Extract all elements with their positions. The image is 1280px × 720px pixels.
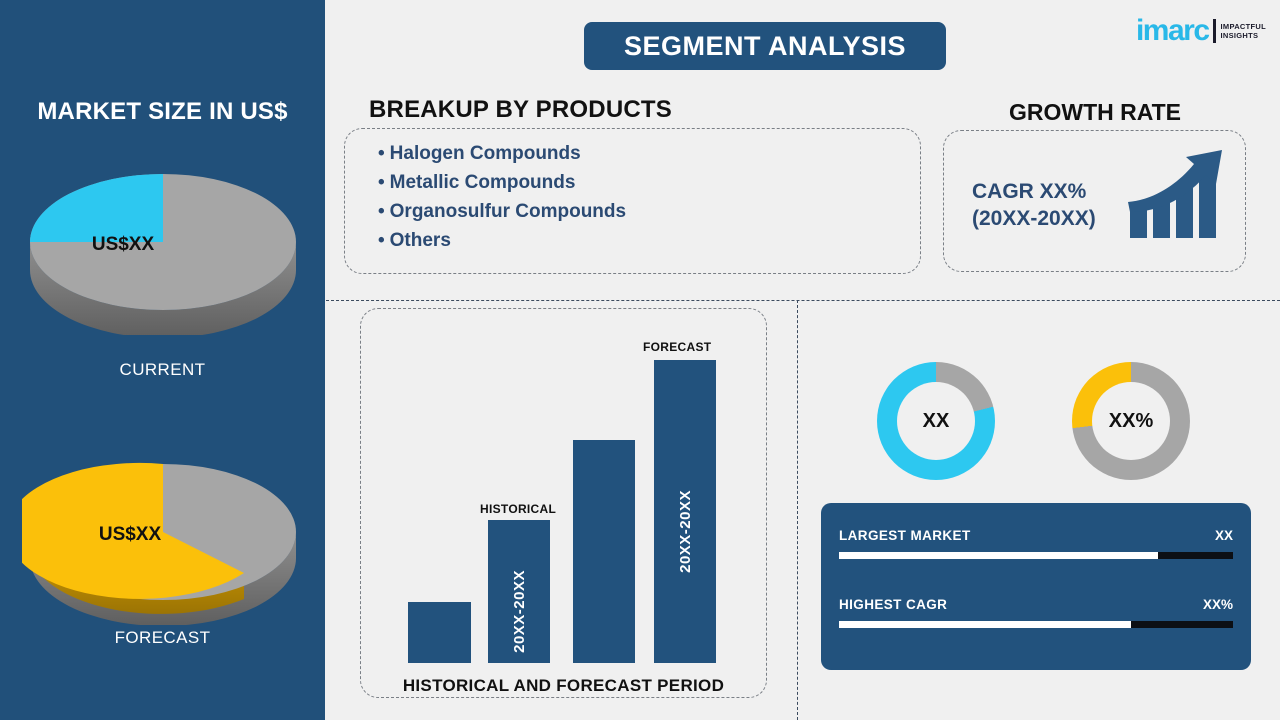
current-pie-caption: CURRENT — [0, 360, 325, 380]
vertical-divider — [797, 300, 798, 720]
bar-chart-axis-label: HISTORICAL AND FORECAST PERIOD — [360, 676, 767, 696]
stat-header: HIGHEST CAGR XX% — [839, 597, 1233, 617]
stat-progress-track — [839, 552, 1233, 559]
bar-3 — [573, 440, 635, 663]
historical-annotation: HISTORICAL — [480, 502, 556, 516]
products-list: •Halogen Compounds •Metallic Compounds •… — [378, 140, 626, 256]
bar-1 — [408, 602, 471, 663]
page-title-banner: SEGMENT ANALYSIS — [584, 22, 946, 70]
current-pie-value: US$XX — [92, 234, 155, 255]
list-item-label: Others — [390, 230, 451, 251]
logo-divider — [1213, 19, 1216, 43]
horizontal-divider — [326, 300, 1280, 301]
logo-tagline-line1: IMPACTFUL — [1221, 22, 1266, 31]
market-size-panel: MARKET SIZE IN US$ US$XX CURRENT — [0, 0, 325, 720]
page-title: SEGMENT ANALYSIS — [624, 31, 906, 62]
bullet-icon: • — [378, 172, 385, 193]
forecast-pie-caption: FORECAST — [0, 628, 325, 648]
imarc-logo-icon: imarc IMPACTFUL INSIGHTS — [1136, 14, 1266, 48]
current-pie-chart: US$XX — [22, 150, 305, 335]
list-item-label: Halogen Compounds — [390, 143, 581, 164]
list-item-label: Organosulfur Compounds — [390, 201, 626, 222]
growth-share-donut-label: XX% — [1072, 362, 1190, 480]
stat-label: HIGHEST CAGR — [839, 597, 947, 612]
stat-label: LARGEST MARKET — [839, 528, 971, 543]
list-item: •Organosulfur Compounds — [378, 198, 626, 227]
stat-row-largest-market: LARGEST MARKET XX — [839, 528, 1233, 559]
growth-arrow-bars-icon — [1126, 146, 1230, 246]
stat-header: LARGEST MARKET XX — [839, 528, 1233, 548]
bar-4: 20XX-20XX — [654, 360, 716, 663]
bar-2: 20XX-20XX — [488, 520, 550, 663]
logo-wordmark: imarc — [1136, 16, 1209, 46]
logo-tagline-line2: INSIGHTS — [1221, 31, 1266, 40]
market-size-title: MARKET SIZE IN US$ — [0, 98, 325, 126]
forecast-pie-value: US$XX — [99, 524, 162, 545]
bar-chart: 20XX-20XX 20XX-20XX HISTORICAL FORECAST — [360, 308, 767, 698]
logo-tagline: IMPACTFUL INSIGHTS — [1221, 22, 1266, 41]
stat-progress-fill — [839, 621, 1131, 628]
bar-2-label: 20XX-20XX — [511, 570, 528, 653]
stat-progress-fill — [839, 552, 1158, 559]
market-share-donut: XX — [877, 362, 995, 480]
bar-4-label: 20XX-20XX — [677, 490, 694, 573]
market-share-donut-label: XX — [877, 362, 995, 480]
infographic-page: MARKET SIZE IN US$ US$XX CURRENT — [0, 0, 1280, 720]
list-item: •Others — [378, 227, 626, 256]
forecast-pie-chart: US$XX — [22, 440, 305, 625]
growth-share-donut: XX% — [1072, 362, 1190, 480]
stat-row-highest-cagr: HIGHEST CAGR XX% — [839, 597, 1233, 628]
list-item: •Halogen Compounds — [378, 140, 626, 169]
bullet-icon: • — [378, 201, 385, 222]
products-heading: BREAKUP BY PRODUCTS — [369, 96, 672, 124]
stat-value: XX — [1215, 528, 1233, 543]
forecast-annotation: FORECAST — [643, 340, 711, 354]
growth-cagr-line: CAGR XX% — [972, 178, 1122, 205]
key-stats-card: LARGEST MARKET XX HIGHEST CAGR XX% — [821, 503, 1251, 670]
bullet-icon: • — [378, 143, 385, 164]
list-item-label: Metallic Compounds — [390, 172, 576, 193]
bullet-icon: • — [378, 230, 385, 251]
growth-heading: GROWTH RATE — [940, 99, 1250, 126]
list-item: •Metallic Compounds — [378, 169, 626, 198]
growth-period-line: (20XX-20XX) — [972, 205, 1122, 232]
stat-value: XX% — [1203, 597, 1233, 612]
growth-rate-text: CAGR XX% (20XX-20XX) — [972, 178, 1122, 233]
stat-progress-track — [839, 621, 1233, 628]
